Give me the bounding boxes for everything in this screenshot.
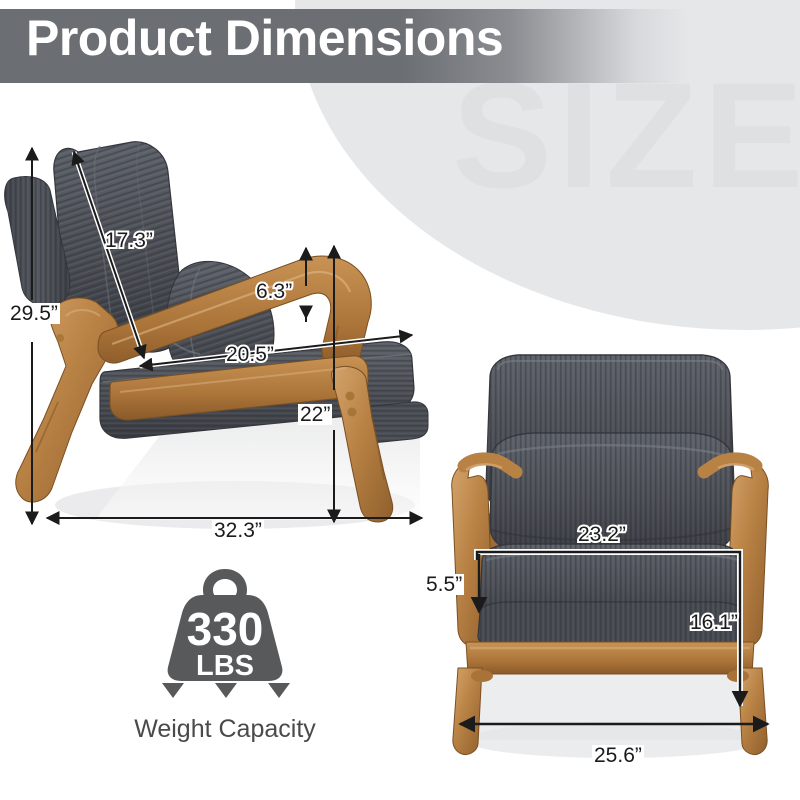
- down-triangle-icon: [215, 683, 237, 698]
- dimension-label-seat-height: 22”: [298, 404, 332, 425]
- dimension-label-seat-width: 23.2”: [578, 524, 626, 545]
- dimension-label-seat-depth: 20.5”: [226, 344, 274, 365]
- front-view-dimension-lines: [420, 330, 800, 780]
- weight-arrows: [162, 683, 290, 698]
- product-dimensions-infographic: SIZE Product Dimensions: [0, 0, 800, 800]
- dimension-label-seat-depth-front: 16.1”: [690, 612, 738, 633]
- weight-capacity-block: 330 LBS Weight Capacity: [105, 565, 345, 755]
- weight-icon: 330 LBS: [162, 565, 288, 683]
- weight-capacity-caption: Weight Capacity: [105, 715, 345, 744]
- dimension-label-overall-height: 29.5”: [8, 303, 60, 324]
- dimension-label-armrest-height: 6.3”: [256, 281, 292, 302]
- weight-unit-text: LBS: [196, 650, 254, 682]
- dimension-label-overall-width: 25.6”: [592, 745, 644, 766]
- side-view-dimension-lines: [0, 120, 470, 560]
- weight-value-text: 330: [187, 603, 264, 655]
- page-title: Product Dimensions: [26, 13, 503, 63]
- dimension-label-cushion-height: 5.5”: [424, 574, 464, 595]
- dimension-label-overall-depth: 32.3”: [212, 520, 264, 541]
- down-triangle-icon: [162, 683, 184, 698]
- dimension-label-backrest-height: 17.3”: [105, 230, 153, 251]
- down-triangle-icon: [268, 683, 290, 698]
